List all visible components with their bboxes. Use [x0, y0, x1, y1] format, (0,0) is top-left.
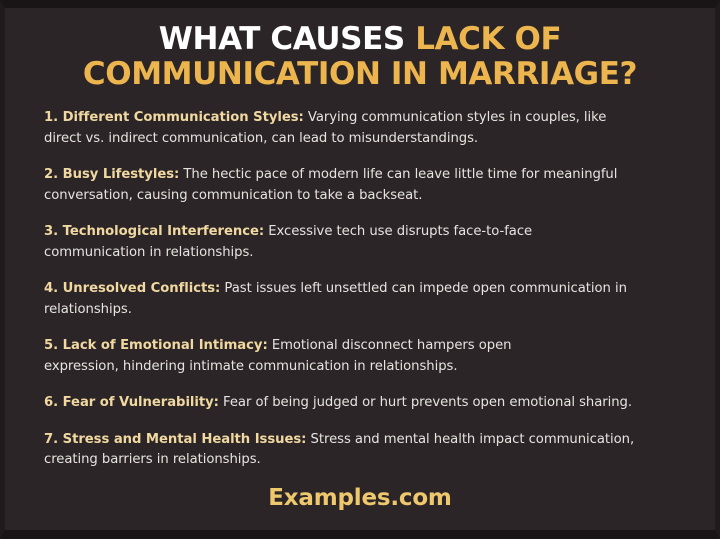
- cause-heading: 2. Busy Lifestyles:: [44, 167, 179, 182]
- title-part-white: WHAT CAUSES: [159, 21, 415, 57]
- title-line-1: WHAT CAUSES LACK OF: [31, 22, 689, 57]
- cause-body: Fear of being judged or hurt prevents op…: [219, 395, 632, 410]
- infographic-poster: WHAT CAUSES LACK OF COMMUNICATION IN MAR…: [0, 0, 720, 539]
- page-title: WHAT CAUSES LACK OF COMMUNICATION IN MAR…: [5, 22, 715, 92]
- cause-heading: 1. Different Communication Styles:: [44, 110, 304, 125]
- cause-heading: 4. Unresolved Conflicts:: [44, 281, 220, 296]
- cause-heading: 6. Fear of Vulnerability:: [44, 395, 219, 410]
- cause-heading: 7. Stress and Mental Health Issues:: [44, 432, 306, 447]
- brand-watermark: Examples.com: [5, 485, 715, 511]
- title-part-gold: LACK OF: [415, 21, 561, 57]
- list-item: 1. Different Communication Styles: Varyi…: [44, 108, 644, 149]
- title-line-2: COMMUNICATION IN MARRIAGE?: [31, 57, 689, 92]
- list-item: 7. Stress and Mental Health Issues: Stre…: [44, 430, 683, 471]
- list-item: 6. Fear of Vulnerability: Fear of being …: [44, 393, 683, 414]
- list-item: 5. Lack of Emotional Intimacy: Emotional…: [44, 336, 564, 377]
- list-item: 4. Unresolved Conflicts: Past issues lef…: [44, 279, 683, 320]
- cause-heading: 5. Lack of Emotional Intimacy:: [44, 338, 268, 353]
- causes-list: 1. Different Communication Styles: Varyi…: [5, 92, 715, 471]
- list-item: 2. Busy Lifestyles: The hectic pace of m…: [44, 165, 644, 206]
- list-item: 3. Technological Interference: Excessive…: [44, 222, 564, 263]
- cause-heading: 3. Technological Interference:: [44, 224, 264, 239]
